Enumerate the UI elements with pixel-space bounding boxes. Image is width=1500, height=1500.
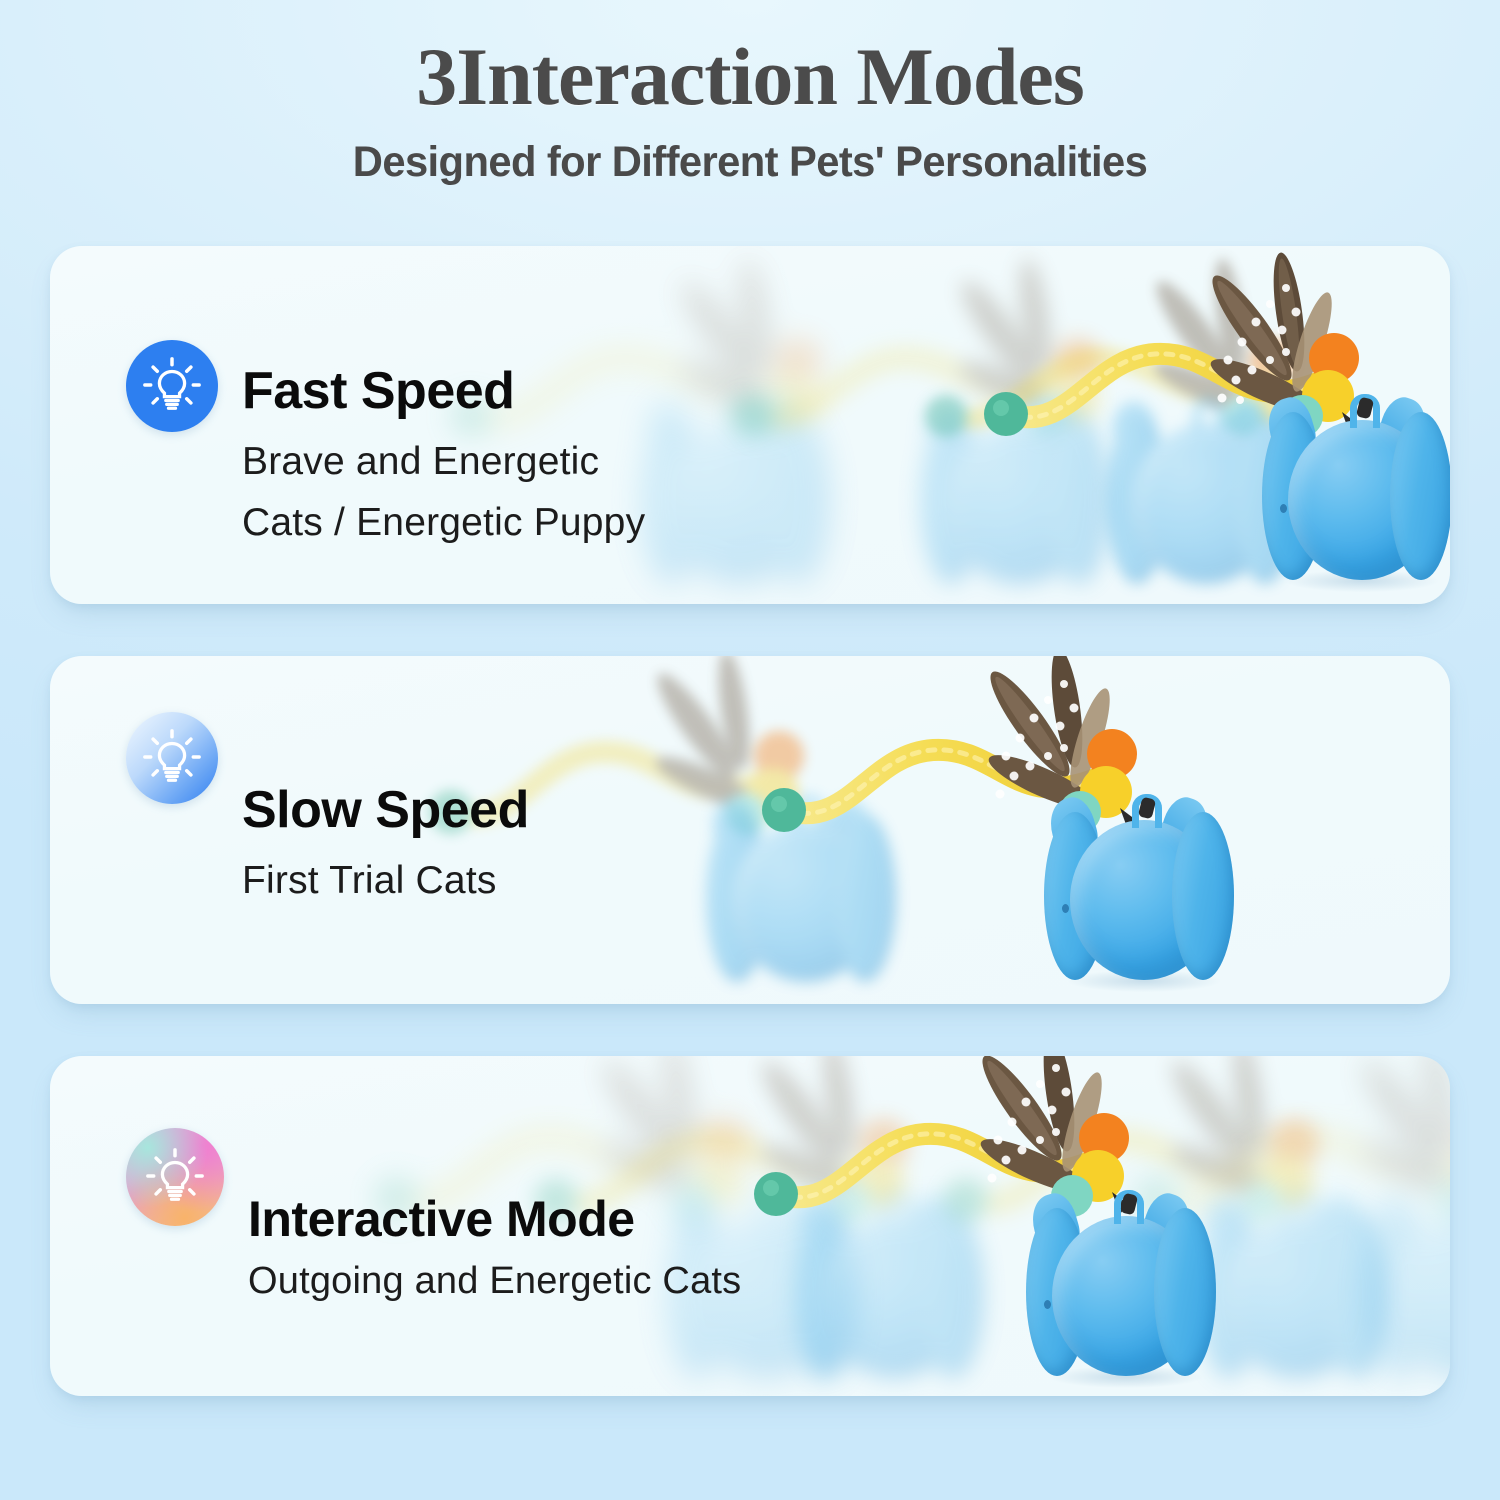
toy-ghost-3 (624, 358, 854, 604)
feather-wand (768, 660, 1198, 870)
page-header: 3Interaction Modes Designed for Differen… (0, 0, 1500, 187)
mode-desc-line-1: Brave and Energetic (242, 434, 645, 489)
cat-ball-toy (1028, 754, 1258, 1004)
mode-desc-line-1: First Trial Cats (242, 853, 529, 908)
labels-interactive-mode: Interactive Mode Outgoing and Energetic … (248, 1165, 741, 1309)
card-text-slow-speed: Slow Speed First Trial Cats (126, 656, 529, 1004)
feather-wand (990, 264, 1420, 474)
wand-ghost-2 (735, 266, 1165, 476)
mode-title: Slow Speed (242, 781, 529, 839)
mode-title: Fast Speed (242, 362, 645, 420)
wand-ghost-1 (930, 266, 1360, 476)
feather-wand (760, 1056, 1190, 1254)
card-text-interactive-mode: Interactive Mode Outgoing and Energetic … (126, 1078, 741, 1396)
card-text-fast-speed: Fast Speed Brave and Energetic Cats / En… (126, 264, 645, 604)
toy-ghost-1 (690, 756, 920, 1004)
mode-card-interactive-mode[interactable]: Interactive Mode Outgoing and Energetic … (50, 1056, 1450, 1396)
page-subtitle: Designed for Different Pets' Personaliti… (23, 138, 1478, 187)
mode-card-slow-speed[interactable]: Slow Speed First Trial Cats (50, 656, 1450, 1004)
cat-ball-toy (1010, 1150, 1240, 1396)
toy-ghost-right-1 (1182, 1152, 1412, 1396)
toy-ghost-1 (1090, 358, 1320, 604)
mode-desc-line-1: Outgoing and Energetic Cats (248, 1255, 741, 1309)
labels-fast-speed: Fast Speed Brave and Energetic Cats / En… (242, 318, 645, 551)
mode-card-list: Fast Speed Brave and Energetic Cats / En… (0, 246, 1500, 1448)
labels-slow-speed: Slow Speed First Trial Cats (242, 751, 529, 909)
cat-ball-toy (1246, 354, 1450, 604)
lightbulb-icon (126, 340, 218, 432)
page-title: 3Interaction Modes (0, 34, 1500, 120)
toy-ghost-2 (904, 358, 1134, 604)
wand-ghost-right-1 (950, 1056, 1380, 1260)
lightbulb-icon (126, 712, 218, 804)
toy-ghost-left-1 (778, 1152, 1008, 1396)
toy-ghost-right-2 (1350, 1152, 1450, 1396)
mode-card-fast-speed[interactable]: Fast Speed Brave and Energetic Cats / En… (50, 246, 1450, 604)
wand-ghost-right-2 (1140, 1056, 1450, 1258)
lightbulb-icon (126, 1128, 224, 1226)
mode-title: Interactive Mode (248, 1191, 741, 1247)
mode-desc-line-2: Cats / Energetic Puppy (242, 495, 645, 550)
